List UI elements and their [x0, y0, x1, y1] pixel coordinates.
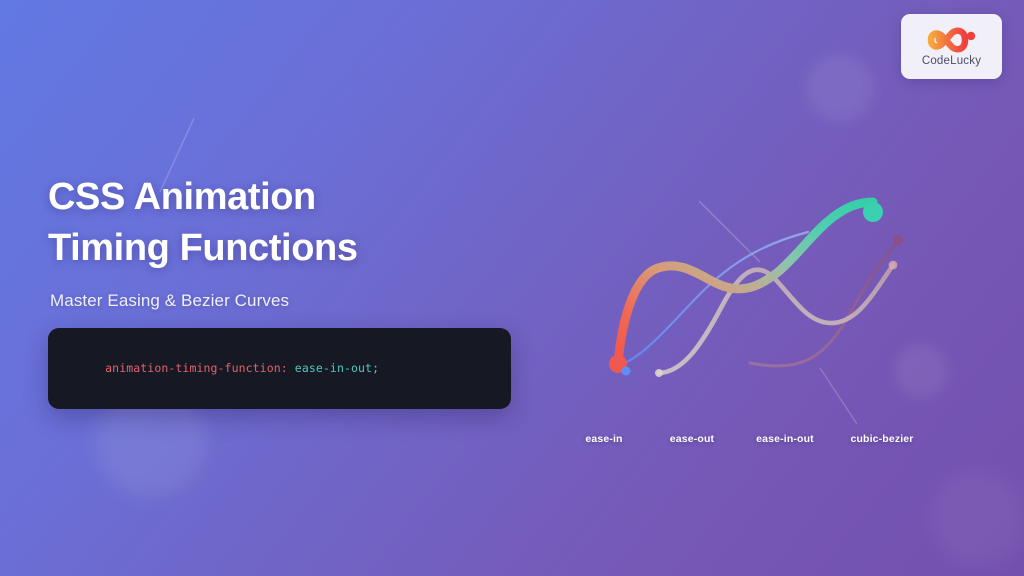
headline-block: CSS Animation Timing Functions Master Ea…: [48, 172, 608, 311]
decorative-circle-top-right: [806, 54, 874, 122]
legend-item-cubic-bezier: cubic-bezier: [834, 433, 930, 445]
legend-item-ease-out: ease-out: [648, 433, 736, 445]
curve-legend: ease-in ease-out ease-in-out cubic-bezie…: [560, 433, 930, 445]
code-line: animation-timing-function: cubic-bezier(…: [63, 395, 511, 409]
legend-item-ease-in-out: ease-in-out: [736, 433, 834, 445]
curve-endpoint-ease-in-out: [863, 202, 883, 222]
slide-canvas: CSS Animation Timing Functions Master Ea…: [0, 0, 1024, 576]
code-value: ease-in-out;: [288, 361, 379, 375]
code-property: animation-timing-function:: [105, 361, 288, 375]
brand-name: CodeLucky: [922, 55, 981, 67]
curve-endpoint-tan-top: [889, 261, 898, 270]
easing-curves-illustration: [560, 180, 960, 405]
curve-endpoint-cubic-bezier: [655, 369, 663, 377]
page-subtitle: Master Easing & Bezier Curves: [50, 291, 608, 311]
brand-badge: CodeLucky: [901, 14, 1002, 79]
curve-endpoint-ease-out: [622, 367, 631, 376]
code-snippet-card: animation-timing-function: ease-in-out; …: [48, 328, 511, 409]
curve-ease-out: [618, 232, 808, 366]
curve-cubic-bezier: [659, 265, 893, 373]
page-title: CSS Animation Timing Functions: [48, 172, 608, 273]
curve-mauve-tail: [750, 242, 898, 366]
curve-endpoint-mauve: [893, 235, 903, 245]
infinity-loop-icon: [923, 26, 981, 54]
legend-item-ease-in: ease-in: [560, 433, 648, 445]
code-line: animation-timing-function: ease-in-out;: [63, 341, 511, 395]
decorative-circle-corner: [930, 470, 1024, 566]
